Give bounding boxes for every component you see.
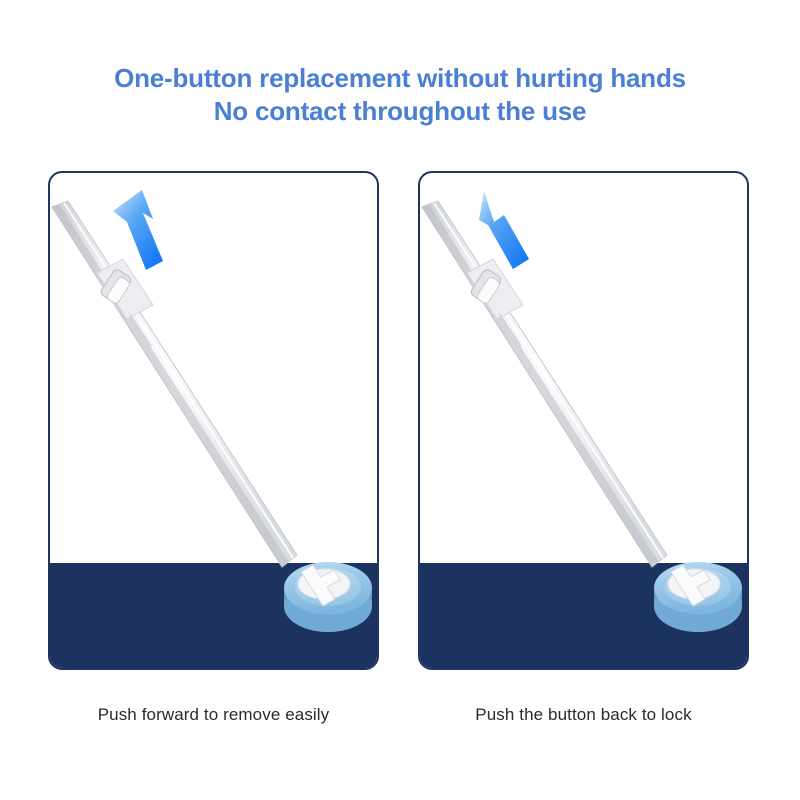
step-panel-left [48,171,379,670]
step-panel-right [418,171,749,670]
mop-handle-right [422,201,667,567]
mop-illustration-right [420,173,747,668]
mop-illustration-left [50,173,377,668]
mop-head-right [654,562,742,632]
push-forward-arrow-left [113,190,163,270]
mop-head-left [284,562,372,632]
infographic-canvas: One-button replacement without hurting h… [0,0,800,800]
caption-left: Push forward to remove easily [48,705,379,725]
page-title: One-button replacement without hurting h… [0,62,800,128]
mop-handle-left [52,201,297,567]
headline-line-2: No contact throughout the use [0,95,800,128]
caption-right: Push the button back to lock [418,705,749,725]
headline-line-1: One-button replacement without hurting h… [0,62,800,95]
push-back-arrow-right [479,191,529,269]
